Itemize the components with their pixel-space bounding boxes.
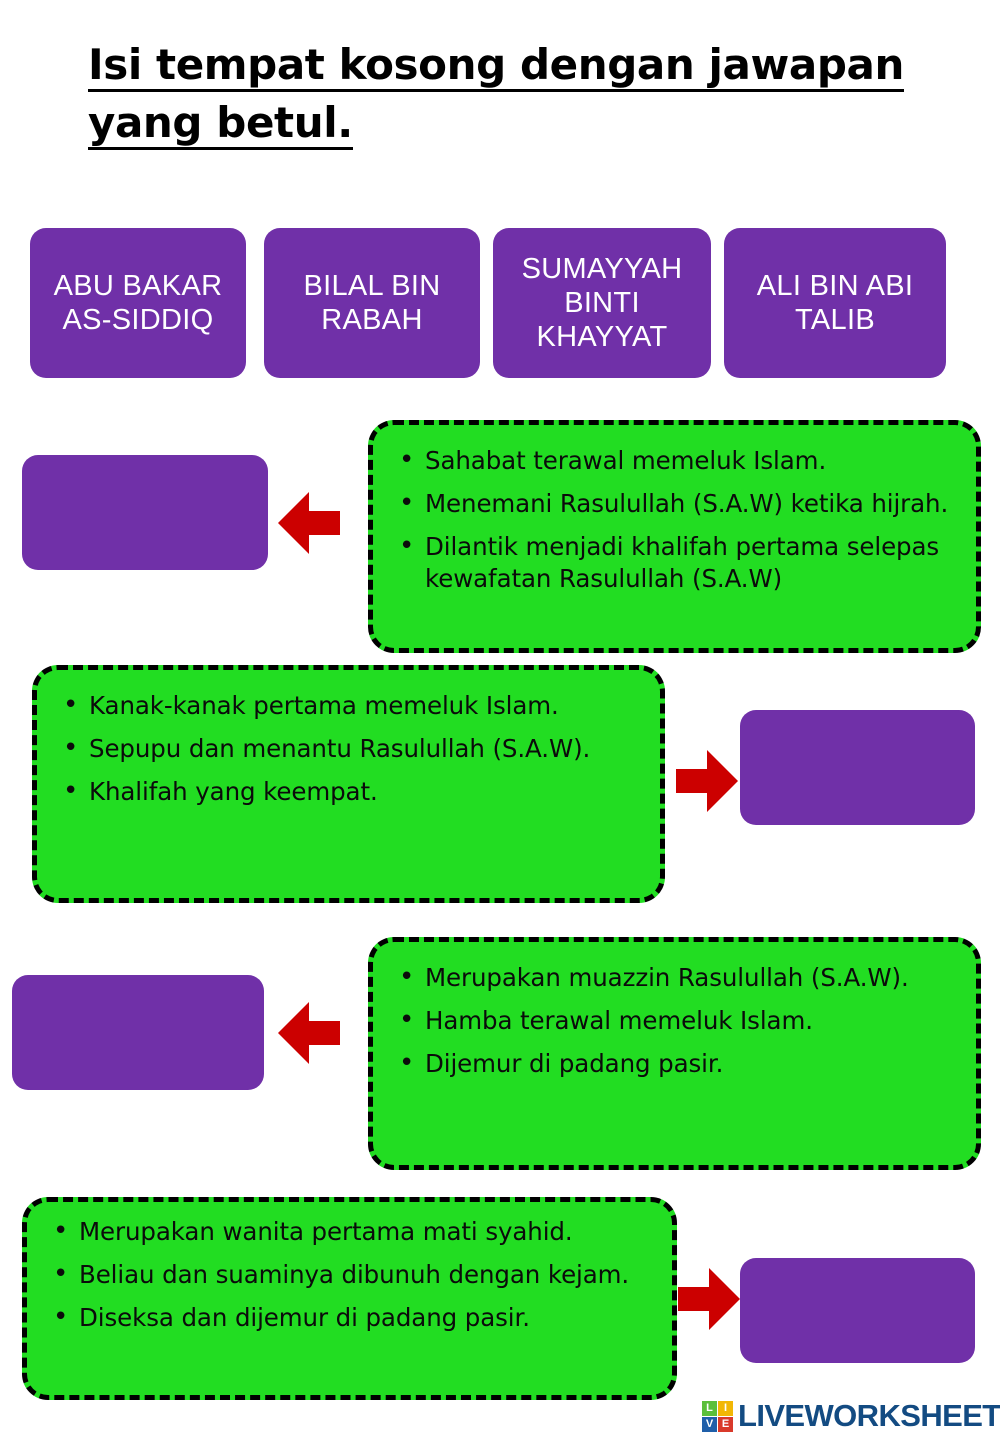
clue-card-2: Kanak-kanak pertama memeluk Islam. Sepup… — [32, 665, 665, 903]
answer-slot-3[interactable] — [12, 975, 264, 1090]
word-bank-option-abu-bakar-as-siddiq[interactable]: ABU BAKAR AS-SIDDIQ — [30, 228, 246, 378]
clue-bullet: Hamba terawal memeluk Islam. — [395, 1005, 950, 1038]
clue-bullet: Dijemur di padang pasir. — [395, 1048, 950, 1081]
arrow-right-icon — [676, 750, 738, 812]
logo-tile-i: I — [718, 1401, 733, 1416]
worksheet-page: Isi tempat kosong dengan jawapan yang be… — [0, 0, 1000, 1443]
word-bank: ABU BAKAR AS-SIDDIQ BILAL BIN RABAH SUMA… — [30, 228, 970, 378]
page-title-line-2: yang betul. — [88, 98, 353, 150]
clue-list-3: Merupakan muazzin Rasulullah (S.A.W). Ha… — [395, 962, 950, 1080]
clue-bullet: Khalifah yang keempat. — [59, 776, 634, 809]
clue-card-4: Merupakan wanita pertama mati syahid. Be… — [22, 1197, 677, 1400]
logo-wordmark: LIVEWORKSHEETS — [738, 1398, 1000, 1434]
word-bank-option-label: BILAL BIN RABAH — [274, 269, 470, 337]
word-bank-option-label: SUMAYYAH BINTI KHAYYAT — [503, 252, 701, 355]
clue-bullet: Merupakan wanita pertama mati syahid. — [49, 1216, 646, 1249]
clue-bullet: Merupakan muazzin Rasulullah (S.A.W). — [395, 962, 950, 995]
clue-bullet: Menemani Rasulullah (S.A.W) ketika hijra… — [395, 488, 950, 521]
liveworksheets-logo-tiles: L I V E — [702, 1401, 733, 1432]
arrow-left-icon — [278, 492, 340, 554]
arrow-left-icon — [278, 1002, 340, 1064]
answer-slot-4[interactable] — [740, 1258, 975, 1363]
word-bank-option-bilal-bin-rabah[interactable]: BILAL BIN RABAH — [264, 228, 480, 378]
word-bank-option-sumayyah-binti-khayyat[interactable]: SUMAYYAH BINTI KHAYYAT — [493, 228, 711, 378]
page-title-line-1: Isi tempat kosong dengan jawapan — [88, 40, 904, 92]
clue-bullet: Dilantik menjadi khalifah pertama selepa… — [395, 531, 950, 597]
answer-slot-2[interactable] — [740, 710, 975, 825]
word-bank-option-label: ABU BAKAR AS-SIDDIQ — [40, 269, 236, 337]
clue-list-4: Merupakan wanita pertama mati syahid. Be… — [49, 1216, 646, 1334]
page-title: Isi tempat kosong dengan jawapan yang be… — [88, 36, 948, 152]
liveworksheets-logo: L I V E LIVEWORKSHEETS — [702, 1398, 1000, 1434]
clue-bullet: Sahabat terawal memeluk Islam. — [395, 445, 950, 478]
clue-card-3: Merupakan muazzin Rasulullah (S.A.W). Ha… — [368, 937, 981, 1170]
clue-bullet: Beliau dan suaminya dibunuh dengan kejam… — [49, 1259, 646, 1292]
word-bank-option-label: ALI BIN ABI TALIB — [734, 269, 936, 337]
logo-tile-e: E — [718, 1417, 733, 1432]
clue-list-1: Sahabat terawal memeluk Islam. Menemani … — [395, 445, 950, 596]
clue-bullet: Kanak-kanak pertama memeluk Islam. — [59, 690, 634, 723]
arrow-right-icon — [678, 1268, 740, 1330]
clue-list-2: Kanak-kanak pertama memeluk Islam. Sepup… — [59, 690, 634, 808]
clue-bullet: Sepupu dan menantu Rasulullah (S.A.W). — [59, 733, 634, 766]
clue-card-1: Sahabat terawal memeluk Islam. Menemani … — [368, 420, 981, 653]
clue-bullet: Diseksa dan dijemur di padang pasir. — [49, 1302, 646, 1335]
logo-tile-l: L — [702, 1401, 717, 1416]
answer-slot-1[interactable] — [22, 455, 268, 570]
logo-tile-v: V — [702, 1417, 717, 1432]
word-bank-option-ali-bin-abi-talib[interactable]: ALI BIN ABI TALIB — [724, 228, 946, 378]
